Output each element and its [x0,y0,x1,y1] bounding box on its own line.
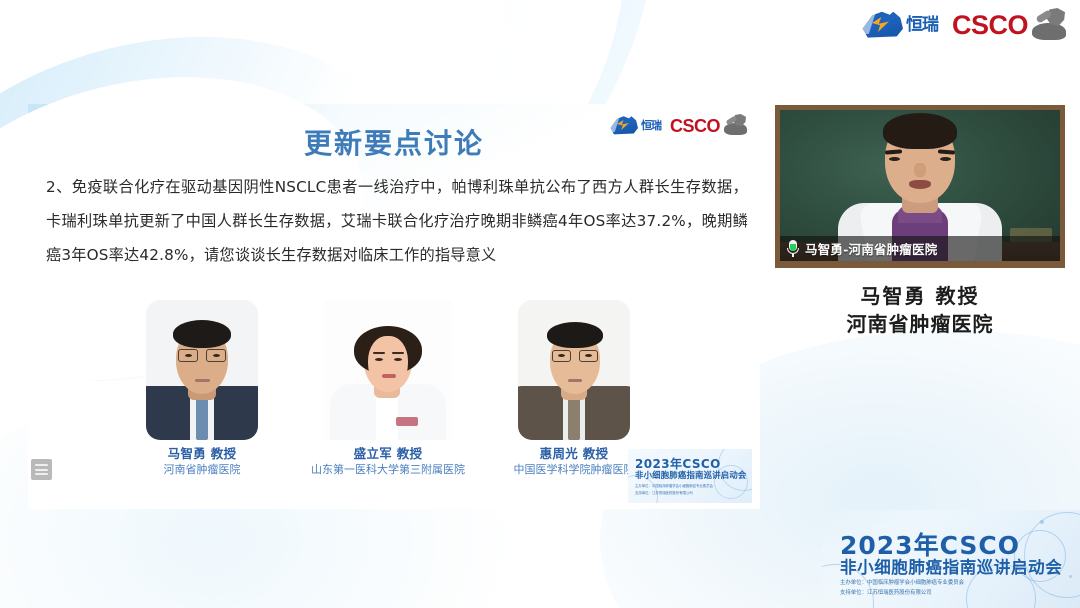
hengrui-mountain-icon [859,10,903,40]
event-banner-fine1: 主办单位：中国临床肿瘤学会小细胞肺癌专业委员会 [840,578,964,586]
speaker-name-card-name: 马智勇 教授 [775,282,1065,310]
slide-hengrui-logo-label: 恒瑞 [641,120,661,131]
video-overlay-label: 马智勇-河南省肿瘤医院 [805,239,937,258]
speaker-name-card-org: 河南省肿瘤医院 [775,310,1065,338]
slide-conference-badge: 2023年CSCO 非小细胞肺癌指南巡讲启动会 主办单位：中国临床肿瘤学会小细胞… [628,449,752,503]
hengrui-logo-label: 恒瑞 [906,17,938,34]
slide-badge-subtitle: 非小细胞肺癌指南巡讲启动会 [635,469,746,481]
speaker-photo [324,300,452,440]
slide-badge-fine1: 主办单位：中国临床肿瘤学会小细胞肺癌专业委员会 [635,483,713,488]
speaker-org: 山东第一医科大学第三附属医院 [304,462,472,477]
slide-body-text: 2、免疫联合化疗在驱动基因阴性NSCLC患者一线治疗中，帕博利珠单抗公布了西方人… [46,170,748,272]
speakers-row: 马智勇 教授 河南省肿瘤医院 盛立军 教授 山东第一医科大学第三附属医 [118,300,658,477]
speaker-photo [518,300,630,440]
csco-logo-label: CSCO [952,12,1028,39]
csco-mascot-icon [1030,8,1068,42]
microphone-icon [786,240,800,257]
slide-badge-fine2: 支持单位：江苏恒瑞医药股份有限公司 [635,490,693,495]
speaker-card: 盛立军 教授 山东第一医科大学第三附属医院 [304,300,472,477]
video-name-overlay: 马智勇-河南省肿瘤医院 [780,236,1060,261]
list-menu-icon[interactable] [31,459,52,480]
speaker-video-tile[interactable]: 马智勇-河南省肿瘤医院 [775,105,1065,268]
event-banner-subtitle: 非小细胞肺癌指南巡讲启动会 [840,554,1062,578]
slide-csco-logo: CSCO [670,114,748,137]
hengrui-logo: 恒瑞 [859,10,938,40]
speaker-name: 马智勇 教授 [118,446,286,462]
slide-csco-logo-label: CSCO [670,117,720,135]
event-banner: 2023年CSCO 非小细胞肺癌指南巡讲启动会 主办单位：中国临床肿瘤学会小细胞… [822,510,1080,608]
speaker-card: 马智勇 教授 河南省肿瘤医院 [118,300,286,477]
csco-mascot-icon [722,114,748,137]
brand-logo-bar: 恒瑞 CSCO [859,8,1068,42]
csco-logo: CSCO [952,8,1068,42]
hengrui-mountain-icon [608,115,638,136]
slide-hengrui-logo: 恒瑞 [608,115,661,136]
speaker-name: 盛立军 教授 [304,446,472,462]
speaker-org: 河南省肿瘤医院 [118,462,286,477]
speaker-name-card: 马智勇 教授 河南省肿瘤医院 [775,282,1065,338]
presentation-slide[interactable]: 恒瑞 CSCO 更新要点讨论 2、免疫联合化疗在驱动基因阴性NSCLC患者一线治… [28,104,760,509]
slide-brand-logo-bar: 恒瑞 CSCO [608,114,748,137]
speaker-photo [146,300,258,440]
event-banner-fine2: 支持单位：江苏恒瑞医药股份有限公司 [840,588,932,596]
